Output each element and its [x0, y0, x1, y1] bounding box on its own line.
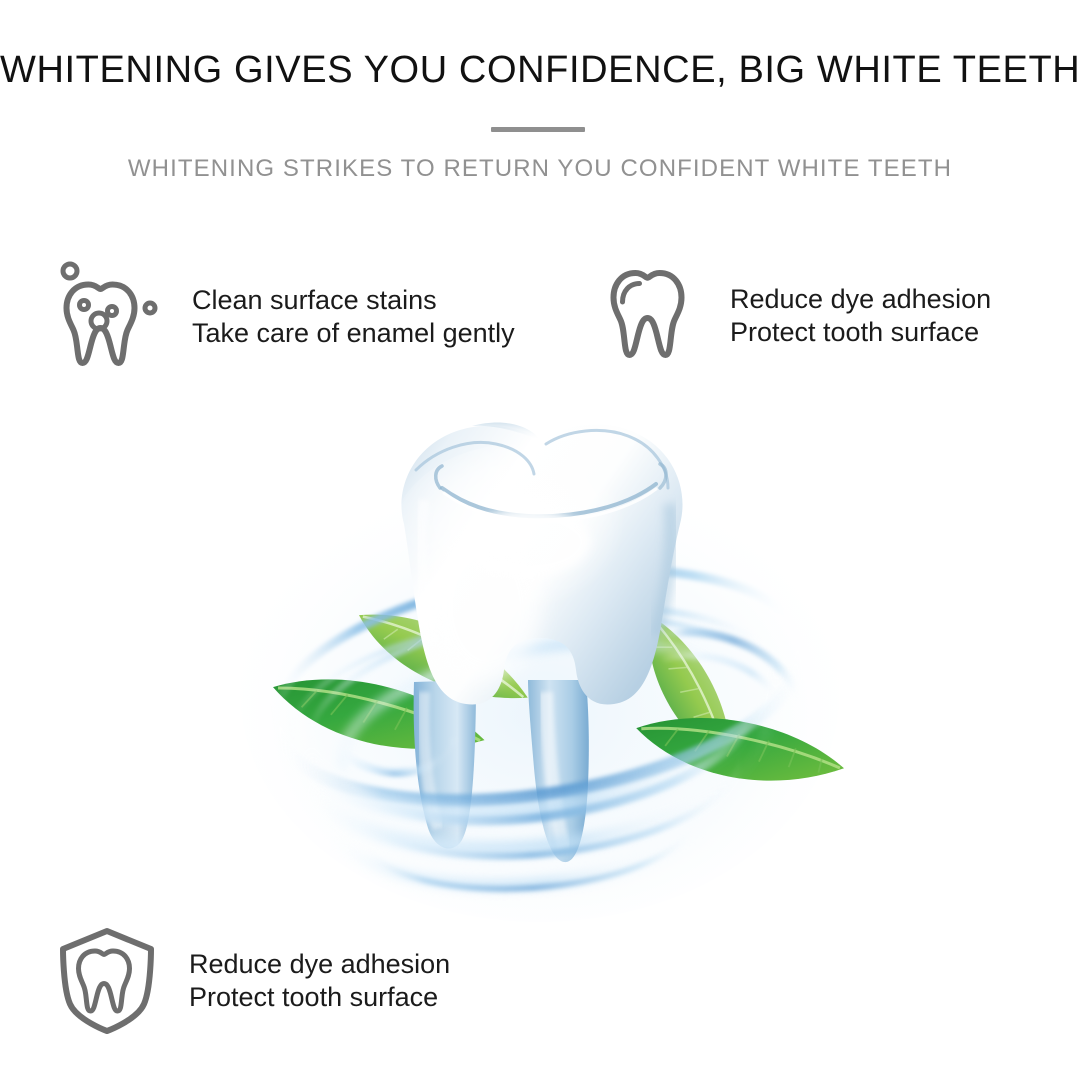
- title-divider: [491, 127, 585, 132]
- feature-text: Reduce dye adhesion Protect tooth surfac…: [730, 283, 991, 349]
- feature-line-1: Reduce dye adhesion: [730, 283, 991, 316]
- shield-tooth-icon: [55, 925, 159, 1037]
- infographic-page: WHITENING GIVES YOU CONFIDENCE, BIG WHIT…: [0, 0, 1080, 1080]
- feature-text: Clean surface stains Take care of enamel…: [192, 284, 515, 350]
- feature-line-2: Take care of enamel gently: [192, 317, 515, 350]
- page-subtitle: WHITENING STRIKES TO RETURN YOU CONFIDEN…: [0, 152, 1080, 186]
- feature-line-2: Protect tooth surface: [730, 316, 991, 349]
- feature-line-1: Reduce dye adhesion: [189, 948, 450, 981]
- feature-item-reduce-dye-adhesion-top: Reduce dye adhesion Protect tooth surfac…: [608, 264, 991, 368]
- feature-item-reduce-dye-adhesion-bottom: Reduce dye adhesion Protect tooth surfac…: [55, 925, 450, 1037]
- page-title: WHITENING GIVES YOU CONFIDENCE, BIG WHIT…: [0, 46, 1080, 94]
- feature-line-1: Clean surface stains: [192, 284, 515, 317]
- feature-text: Reduce dye adhesion Protect tooth surfac…: [189, 948, 450, 1014]
- tooth-icon: [608, 264, 708, 368]
- tooth-with-stains-icon: [52, 258, 170, 376]
- feature-item-clean-surface-stains: Clean surface stains Take care of enamel…: [52, 258, 515, 376]
- feature-line-2: Protect tooth surface: [189, 981, 450, 1014]
- hero-tooth-illustration: [228, 392, 852, 922]
